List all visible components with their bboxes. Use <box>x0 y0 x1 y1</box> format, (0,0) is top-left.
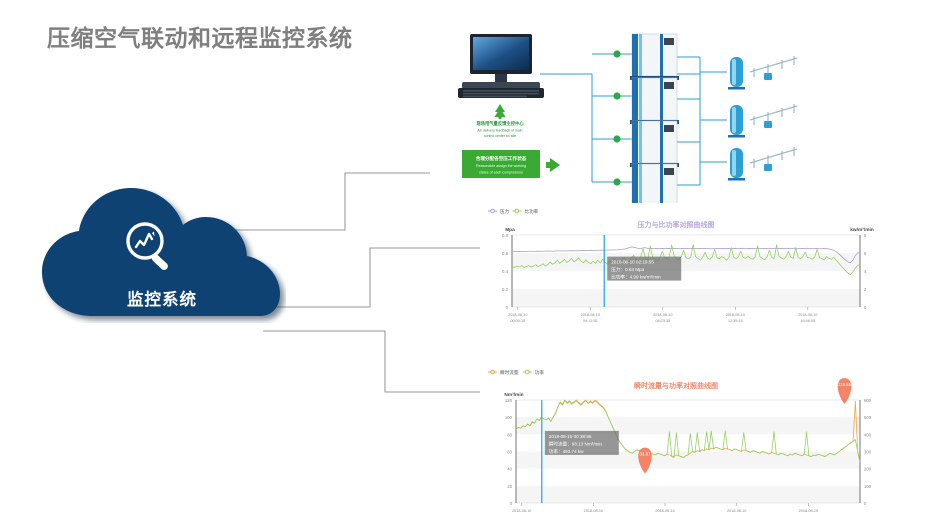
green-info-box: 合理分配各空压工作状态 Reasonable assign the workin… <box>462 150 540 178</box>
green-box-en-1: Reasonable assign the working <box>476 164 526 168</box>
y-tick-label: 0 <box>510 501 513 506</box>
tank-group-3 <box>728 147 797 181</box>
x-tick-label-time: 16:46:55 <box>800 319 815 323</box>
cloud-label: 监控系统 <box>38 286 286 310</box>
x-tick-label: 2018-08-10 <box>726 313 745 317</box>
node-badges <box>613 50 620 185</box>
y-tick-label: 0.6 <box>502 251 509 256</box>
marker-label: 33.87 <box>640 452 652 457</box>
legend-item[interactable]: 瞬时流量 <box>488 369 519 376</box>
pressure-chart-panel[interactable]: 压力比功率压力与比功率对照曲线图Mpakw/m³/min0.80.60.40.2… <box>480 203 892 331</box>
green-box-cn: 合理分配各空压工作状态 <box>476 155 527 162</box>
y-tick-right-label: 200 <box>864 467 872 472</box>
tooltip-row-1: 瞬时流量：98.13 Nm³/min <box>549 440 603 447</box>
y-tick-right-label: 0 <box>864 501 867 506</box>
page-title: 压缩空气联动和远程监控系统 <box>47 19 353 53</box>
y-tick-right-label: 300 <box>864 450 872 455</box>
y-tick-right-label: 500 <box>864 415 872 420</box>
chart-tooltip: 2018-08-10 00:38:55瞬时流量：98.13 Nm³/min功率：… <box>545 431 619 455</box>
y-tick-right-label: 100 <box>864 484 872 489</box>
y-tick-label: 0.8 <box>502 233 509 238</box>
y-tick-right-label: 8 <box>864 233 867 238</box>
topology-diagram: 现场用气量反馈主控中心 Air delivery feedback of mai… <box>432 22 932 207</box>
y-tick-label: 40 <box>507 467 512 472</box>
legend-item[interactable]: 功率 <box>523 369 545 376</box>
y-tick-label: 60 <box>507 450 512 455</box>
legend-label: 压力 <box>500 208 510 215</box>
monitor-icon <box>458 34 544 98</box>
tooltip-row-2: 比功率：4.99 kw/m³/min <box>611 274 661 281</box>
tank-group-1 <box>728 56 797 90</box>
x-tick-label: 2018-08-10 <box>581 313 600 317</box>
tooltip-timestamp: 2018-08-10 02:19:55 <box>611 260 654 265</box>
legend-label: 比功率 <box>524 208 538 215</box>
tooltip-row-2: 功率：493.74 kw <box>549 448 584 455</box>
grid-band <box>516 469 860 486</box>
up-arrow-icon <box>495 104 506 119</box>
flow-power-chart-panel[interactable]: 瞬时流量功率瞬时流量与功率对照曲线图Nm³/min120100806040200… <box>480 364 892 529</box>
y-tick-label: 0 <box>506 305 509 310</box>
y-tick-label: 0.4 <box>502 269 509 274</box>
x-tick-label: 2018-08-10 <box>512 509 531 513</box>
right-arrow-icon <box>546 158 560 172</box>
compressor-icon-1 <box>630 34 679 80</box>
y-tick-label: 0.2 <box>502 287 509 292</box>
grid-band <box>512 253 860 271</box>
compressor-icon-4 <box>630 164 679 207</box>
x-tick-label: 2018-08-10 <box>727 509 746 513</box>
x-tick-label: 2018-08-10 <box>508 313 527 317</box>
tank-group-2 <box>728 104 797 138</box>
y-tick-right-label: 0 <box>864 305 867 310</box>
x-tick-label: 2018-08-10 <box>798 313 817 317</box>
monitor-label-cn: 现场用气量反馈主控中心 <box>476 120 524 127</box>
grid-band <box>512 289 860 307</box>
legend-item[interactable]: 压力 <box>488 208 510 215</box>
y-tick-label: 20 <box>507 484 512 489</box>
legend-label: 瞬时流量 <box>500 369 519 376</box>
legend-item[interactable]: 比功率 <box>512 208 538 215</box>
x-tick-label-time: 00:00:15 <box>510 319 525 323</box>
magnifier-chart-icon <box>120 217 182 279</box>
y-axis-unit-right: kw/m³/min <box>850 227 874 233</box>
x-tick-label: 2018-08-10 <box>799 509 818 513</box>
y-tick-right-label: 2 <box>864 287 867 292</box>
x-tick-label-time: 08:23:35 <box>655 319 670 323</box>
compressor-icon-3 <box>630 121 679 167</box>
chart-title: 压力与比功率对照曲线图 <box>638 220 715 229</box>
grid-band <box>512 235 860 253</box>
x-tick-label: 2018-08-10 <box>653 313 672 317</box>
monitor-label-en-2: control center on site <box>484 134 517 138</box>
y-tick-right-label: 6 <box>864 251 867 256</box>
y-tick-right-label: 400 <box>864 432 872 437</box>
grid-band <box>512 271 860 289</box>
y-tick-right-label: 600 <box>864 398 872 403</box>
monitor-label-en-1: Air delivery feedback of main <box>478 129 523 133</box>
compressor-icon-2 <box>630 78 679 124</box>
chart-title: 瞬时流量与功率对照曲线图 <box>634 381 718 390</box>
tooltip-timestamp: 2018-08-10 00:38:55 <box>549 434 592 439</box>
grid-band <box>516 486 860 503</box>
x-tick-label: 2018-08-10 <box>655 509 674 513</box>
tooltip-row-1: 压力：0.63 Mpa <box>611 266 644 273</box>
chart-tooltip: 2018-08-10 02:19:55压力：0.63 Mpa比功率：4.99 k… <box>607 257 681 281</box>
x-tick-label-time: 12:35:15 <box>728 319 743 323</box>
y-tick-right-label: 4 <box>864 269 867 274</box>
slide-canvas: 压缩空气联动和远程监控系统 监控系统 <box>0 0 945 529</box>
x-tick-label: 2018-08-10 <box>584 509 603 513</box>
x-tick-label-time: 04:11:55 <box>583 319 598 323</box>
y-tick-label: 80 <box>507 432 512 437</box>
green-box-en-2: states of each compressors <box>479 171 523 175</box>
marker-label: 118.55 <box>838 382 852 387</box>
y-tick-label: 120 <box>505 398 513 403</box>
legend-label: 功率 <box>535 369 545 376</box>
y-tick-label: 100 <box>505 415 513 420</box>
